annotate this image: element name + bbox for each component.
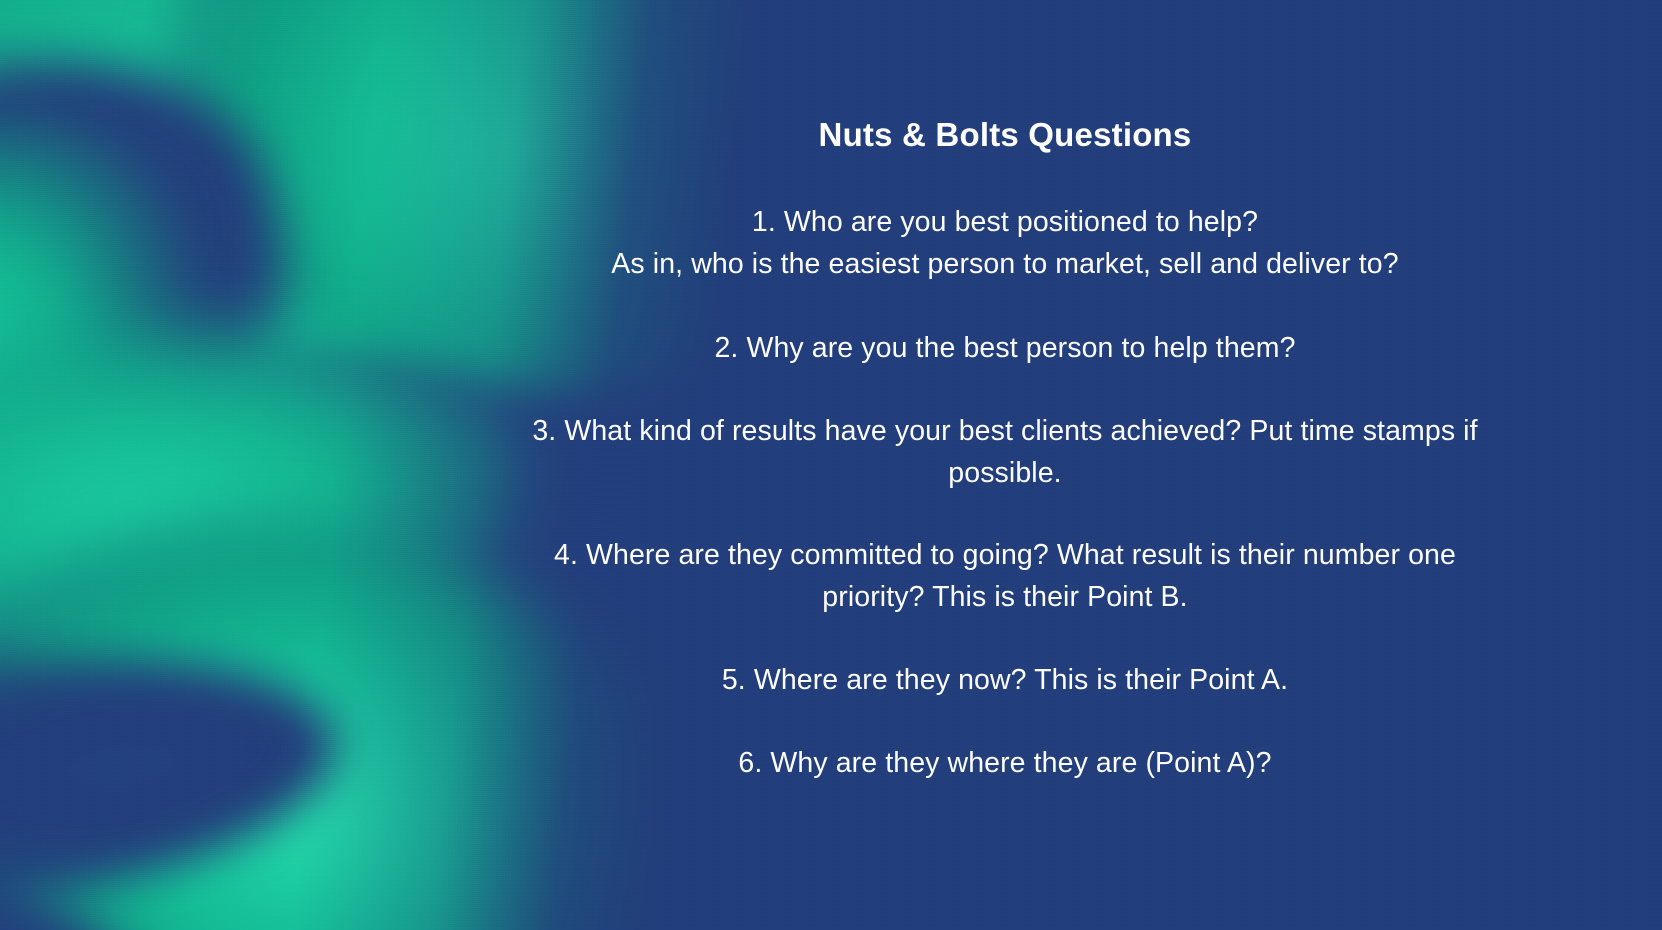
presentation-slide: Nuts & Bolts Questions 1. Who are you be… [0,0,1662,930]
gradient-carve-bottom-tail [0,798,153,930]
question-item: 3. What kind of results have your best c… [508,411,1503,495]
question-list: 1. Who are you best positioned to help? … [470,202,1540,785]
slide-title: Nuts & Bolts Questions [470,115,1540,155]
slide-content: Nuts & Bolts Questions 1. Who are you be… [470,0,1540,930]
question-item: 1. Who are you best positioned to help? … [470,202,1540,286]
question-item: 2. Why are you the best person to help t… [470,328,1540,370]
question-item: 5. Where are they now? This is their Poi… [470,660,1540,702]
gradient-carve-bottom-curl [0,617,354,930]
question-item: 6. Why are they where they are (Point A)… [470,743,1540,785]
gradient-blob-left-tail [0,82,255,639]
question-item: 4. Where are they committed to going? Wh… [513,535,1498,619]
gradient-blob-middle [0,300,542,719]
gradient-carve-top-curl [0,3,329,546]
